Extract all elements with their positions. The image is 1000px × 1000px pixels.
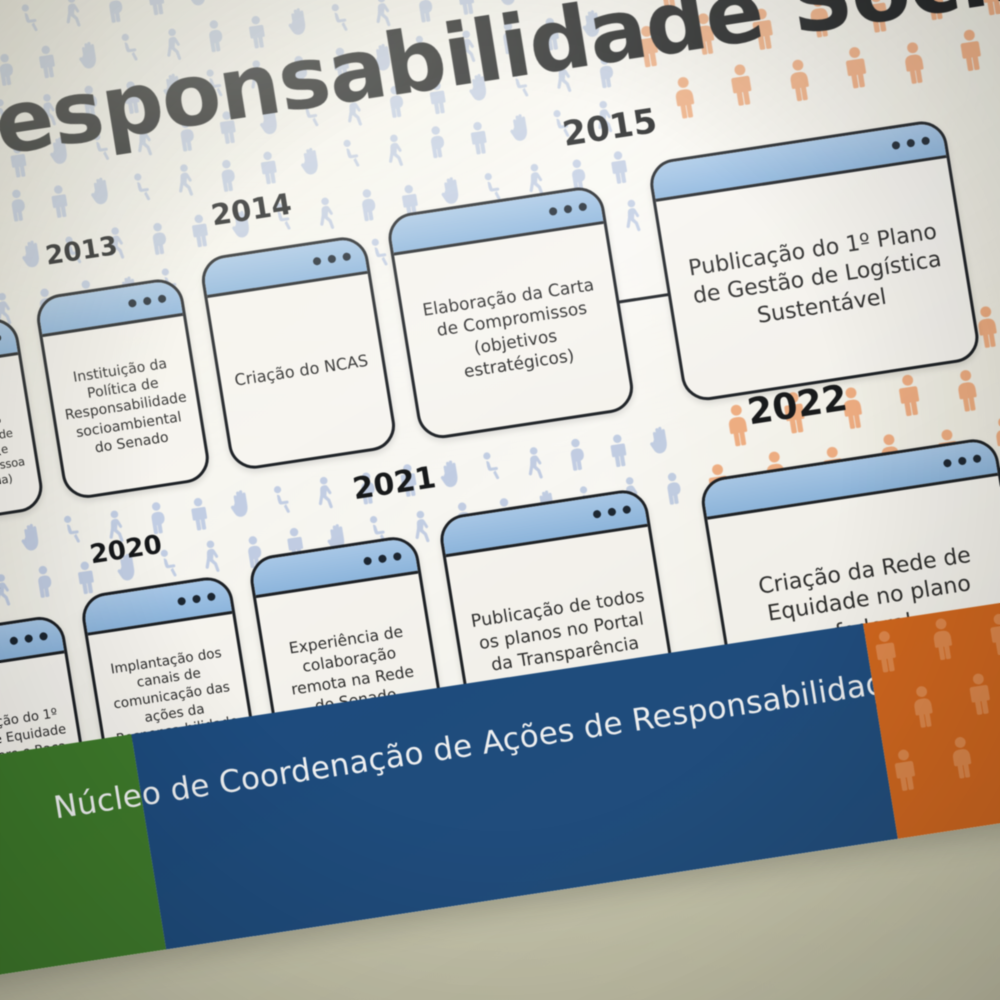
timeline-card-2015-carta[interactable]: Elaboração da Carta de Compromissos (obj… bbox=[385, 184, 637, 442]
card-body: Criação do NCAS bbox=[208, 274, 396, 469]
three-dots-icon bbox=[592, 510, 601, 519]
card-text: Instituição do Programa (Permanente do S… bbox=[0, 380, 30, 502]
three-dots-icon bbox=[563, 205, 572, 214]
three-dots-icon bbox=[312, 257, 321, 266]
three-dots-icon bbox=[891, 141, 900, 150]
three-dots-icon bbox=[943, 459, 952, 468]
card-body: Elaboração da Carta de Compromissos (obj… bbox=[394, 224, 633, 438]
three-dots-icon bbox=[342, 252, 351, 261]
three-dots-icon bbox=[9, 636, 18, 645]
three-dots-icon bbox=[906, 139, 915, 148]
three-dots-icon bbox=[378, 554, 387, 563]
card-text: Elaboração da Carta de Compromissos (obj… bbox=[411, 273, 617, 389]
three-dots-icon bbox=[549, 207, 558, 216]
three-dots-icon bbox=[921, 136, 930, 145]
card-body: Instituição do Programa (Permanente do S… bbox=[0, 355, 43, 528]
timeline-card-2013[interactable]: Instituição da Política de Responsabilid… bbox=[33, 276, 212, 501]
three-dots-icon bbox=[128, 299, 137, 308]
three-dots-icon bbox=[578, 202, 587, 211]
three-dots-icon bbox=[973, 454, 982, 463]
panel-perspective-wrapper: Responsabilidade Social 2008 2013 2014 2… bbox=[0, 0, 1000, 1000]
card-body: Instituição da Política de Responsabilid… bbox=[43, 316, 209, 498]
three-dots-icon bbox=[622, 505, 631, 514]
three-dots-icon bbox=[177, 597, 186, 606]
printed-timeline-panel: Responsabilidade Social 2008 2013 2014 2… bbox=[0, 0, 1000, 982]
three-dots-icon bbox=[39, 632, 48, 641]
year-label-2019: 2019 bbox=[0, 572, 4, 611]
three-dots-icon bbox=[363, 556, 372, 565]
three-dots-icon bbox=[24, 634, 33, 643]
timeline-card-2008[interactable]: Instituição do Programa (Permanente do S… bbox=[0, 315, 46, 531]
three-dots-icon bbox=[607, 507, 616, 516]
three-dots-icon bbox=[393, 552, 402, 561]
screenshot-root: Responsabilidade Social 2008 2013 2014 2… bbox=[0, 0, 1000, 1000]
three-dots-icon bbox=[327, 254, 336, 263]
card-text: Instituição da Política de Responsabilid… bbox=[57, 353, 194, 461]
timeline-card-2014[interactable]: Criação do NCAS bbox=[198, 234, 399, 472]
card-text: Criação do NCAS bbox=[233, 351, 370, 392]
timeline-card-2015-pls[interactable]: Publicação do 1º Plano de Gestão de Logí… bbox=[647, 118, 983, 404]
three-dots-icon bbox=[207, 592, 216, 601]
three-dots-icon bbox=[157, 294, 166, 303]
card-connector-line bbox=[617, 293, 671, 304]
three-dots-icon bbox=[0, 333, 2, 342]
three-dots-icon bbox=[192, 594, 201, 603]
card-text: Publicação do 1º Plano de Gestão de Logí… bbox=[674, 216, 961, 342]
three-dots-icon bbox=[958, 456, 967, 465]
three-dots-icon bbox=[143, 297, 152, 306]
